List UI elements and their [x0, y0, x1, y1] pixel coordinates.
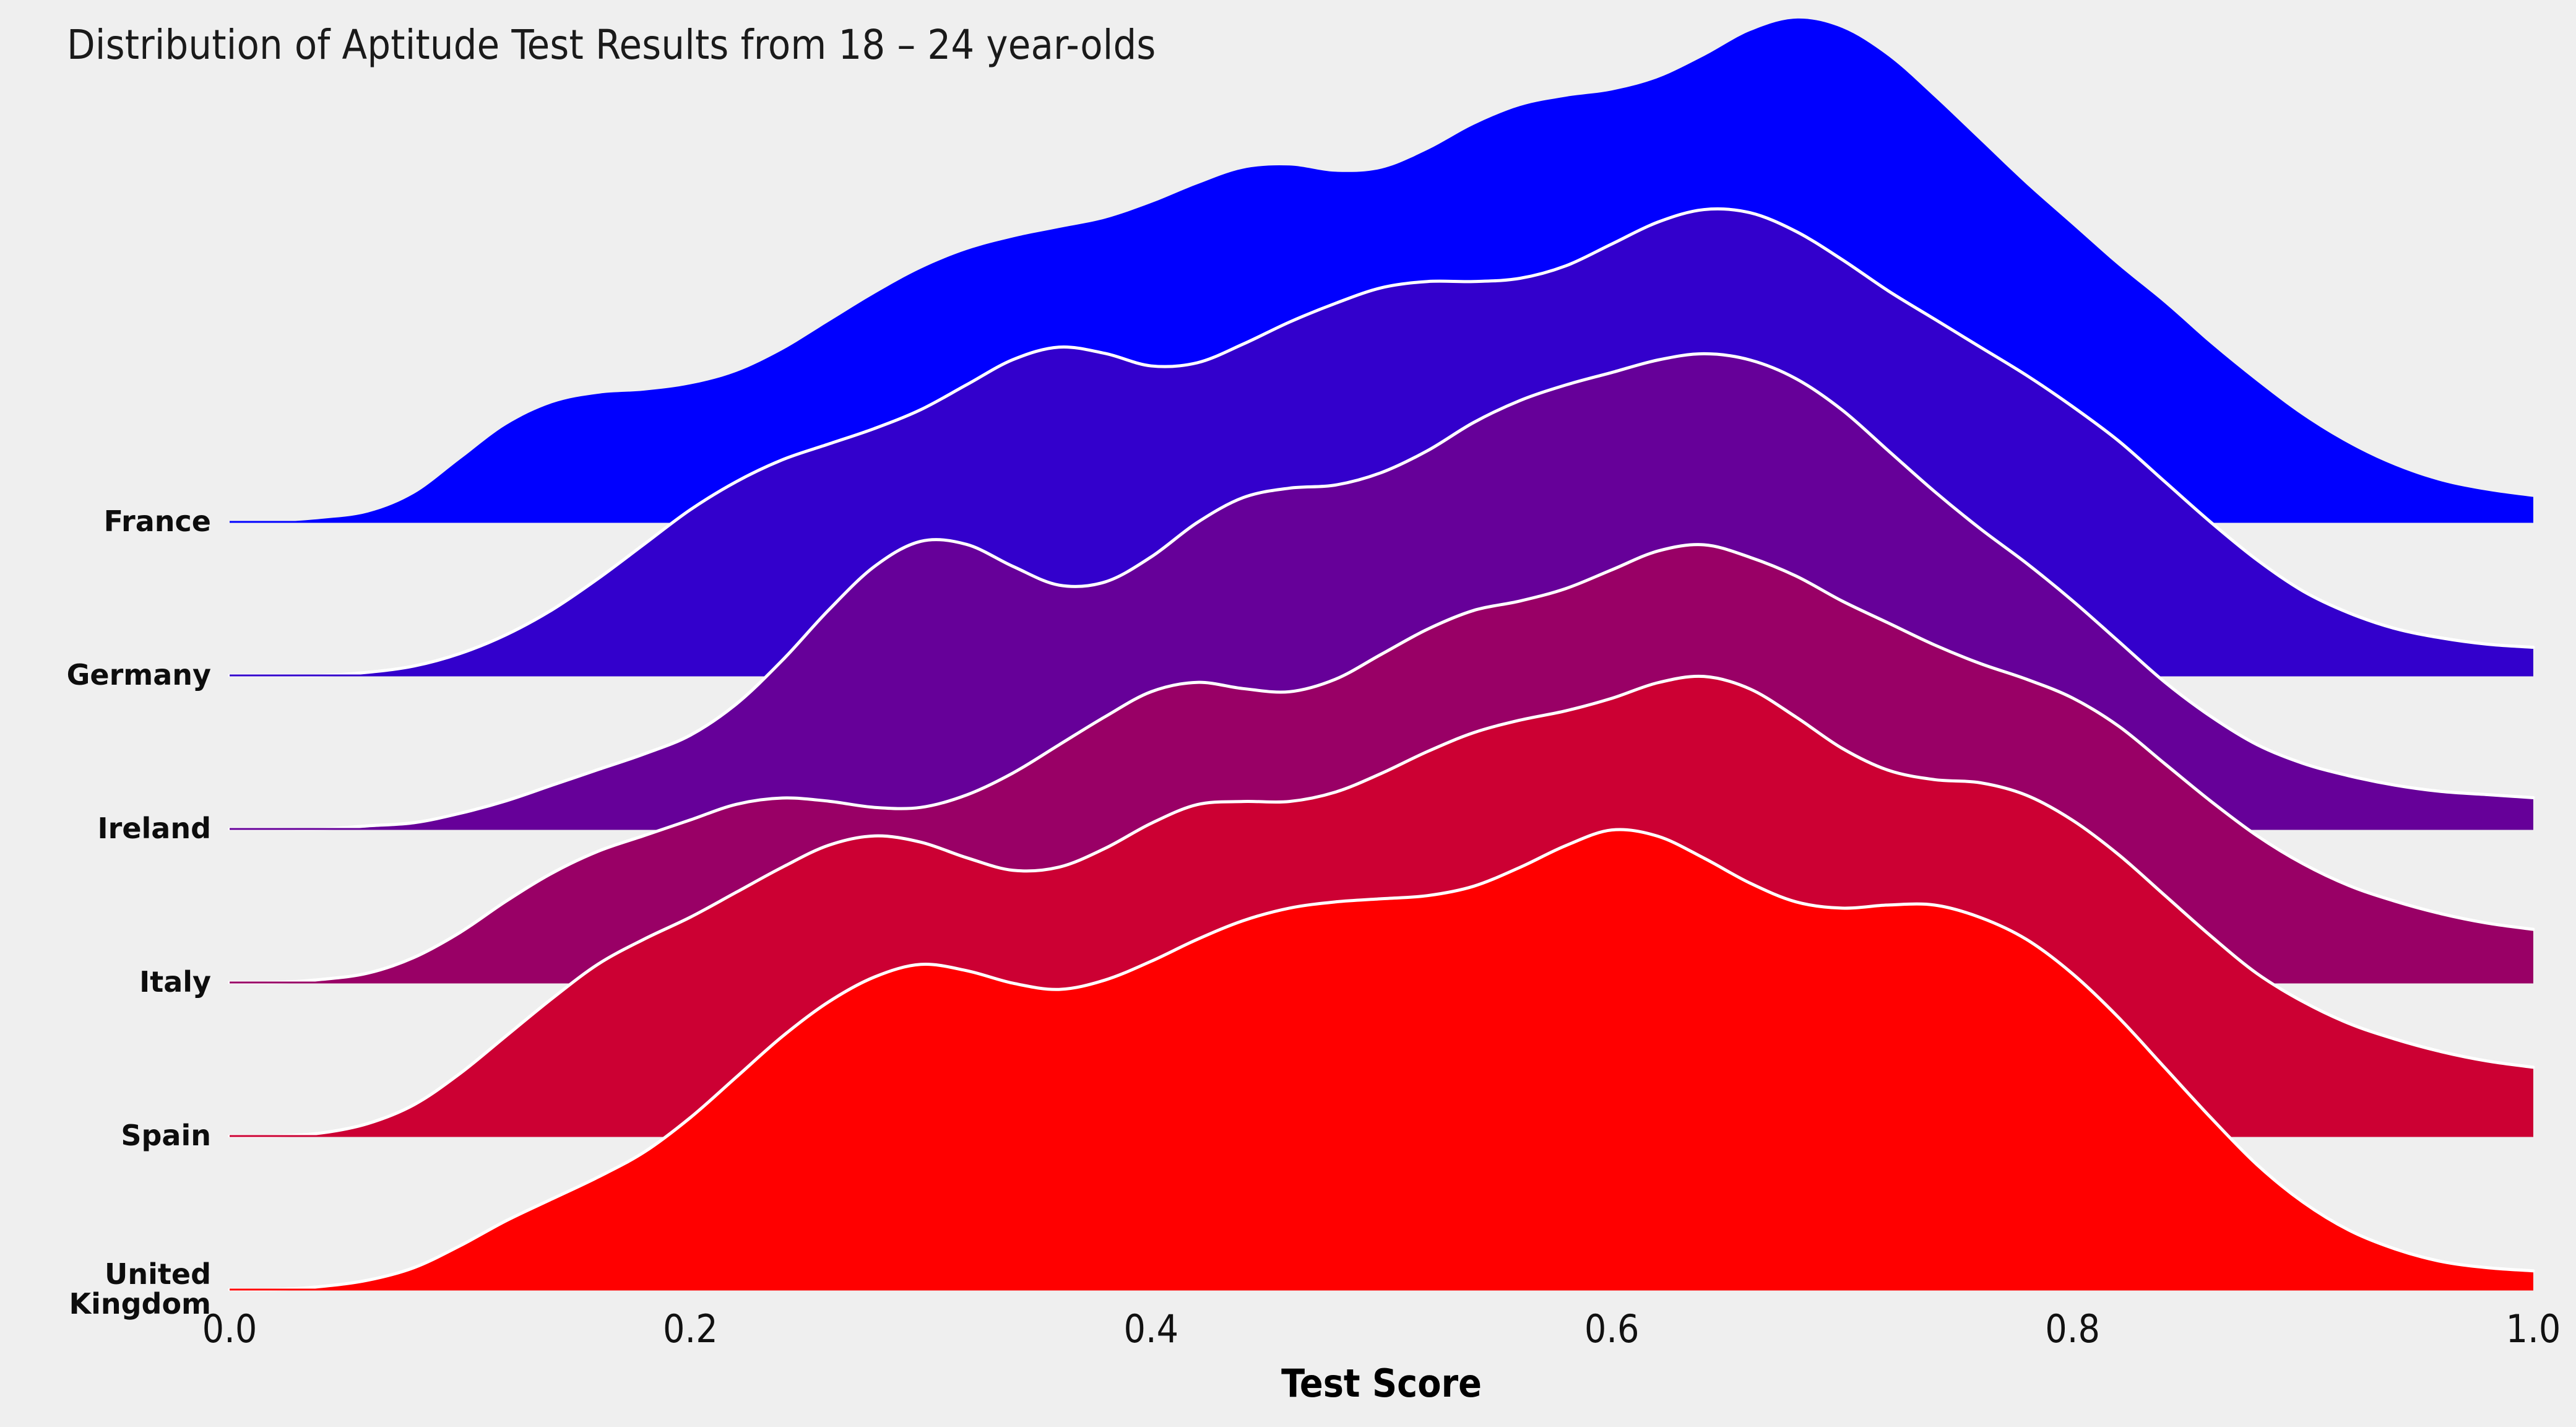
ridgeline-chart: Distribution of Aptitude Test Results fr…	[0, 0, 2576, 1427]
ridgeline-plot-area	[0, 0, 2576, 1427]
y-axis-label-ireland: Ireland	[98, 814, 211, 844]
x-tick-1-0: 1.0	[2506, 1306, 2561, 1351]
x-tick-0-6: 0.6	[1584, 1306, 1640, 1351]
x-tick-0-4: 0.4	[1123, 1306, 1178, 1351]
x-tick-0-8: 0.8	[2045, 1306, 2100, 1351]
y-axis-label-france: France	[104, 507, 211, 537]
y-axis-label-united-kingdom: United Kingdom	[69, 1260, 211, 1319]
y-axis-label-italy: Italy	[139, 968, 211, 997]
x-tick-0-2: 0.2	[663, 1306, 718, 1351]
y-axis-label-spain: Spain	[121, 1121, 211, 1151]
x-axis-title: Test Score	[1281, 1361, 1482, 1406]
y-axis-label-germany: Germany	[67, 661, 211, 690]
x-tick-0-0: 0.0	[202, 1306, 257, 1351]
